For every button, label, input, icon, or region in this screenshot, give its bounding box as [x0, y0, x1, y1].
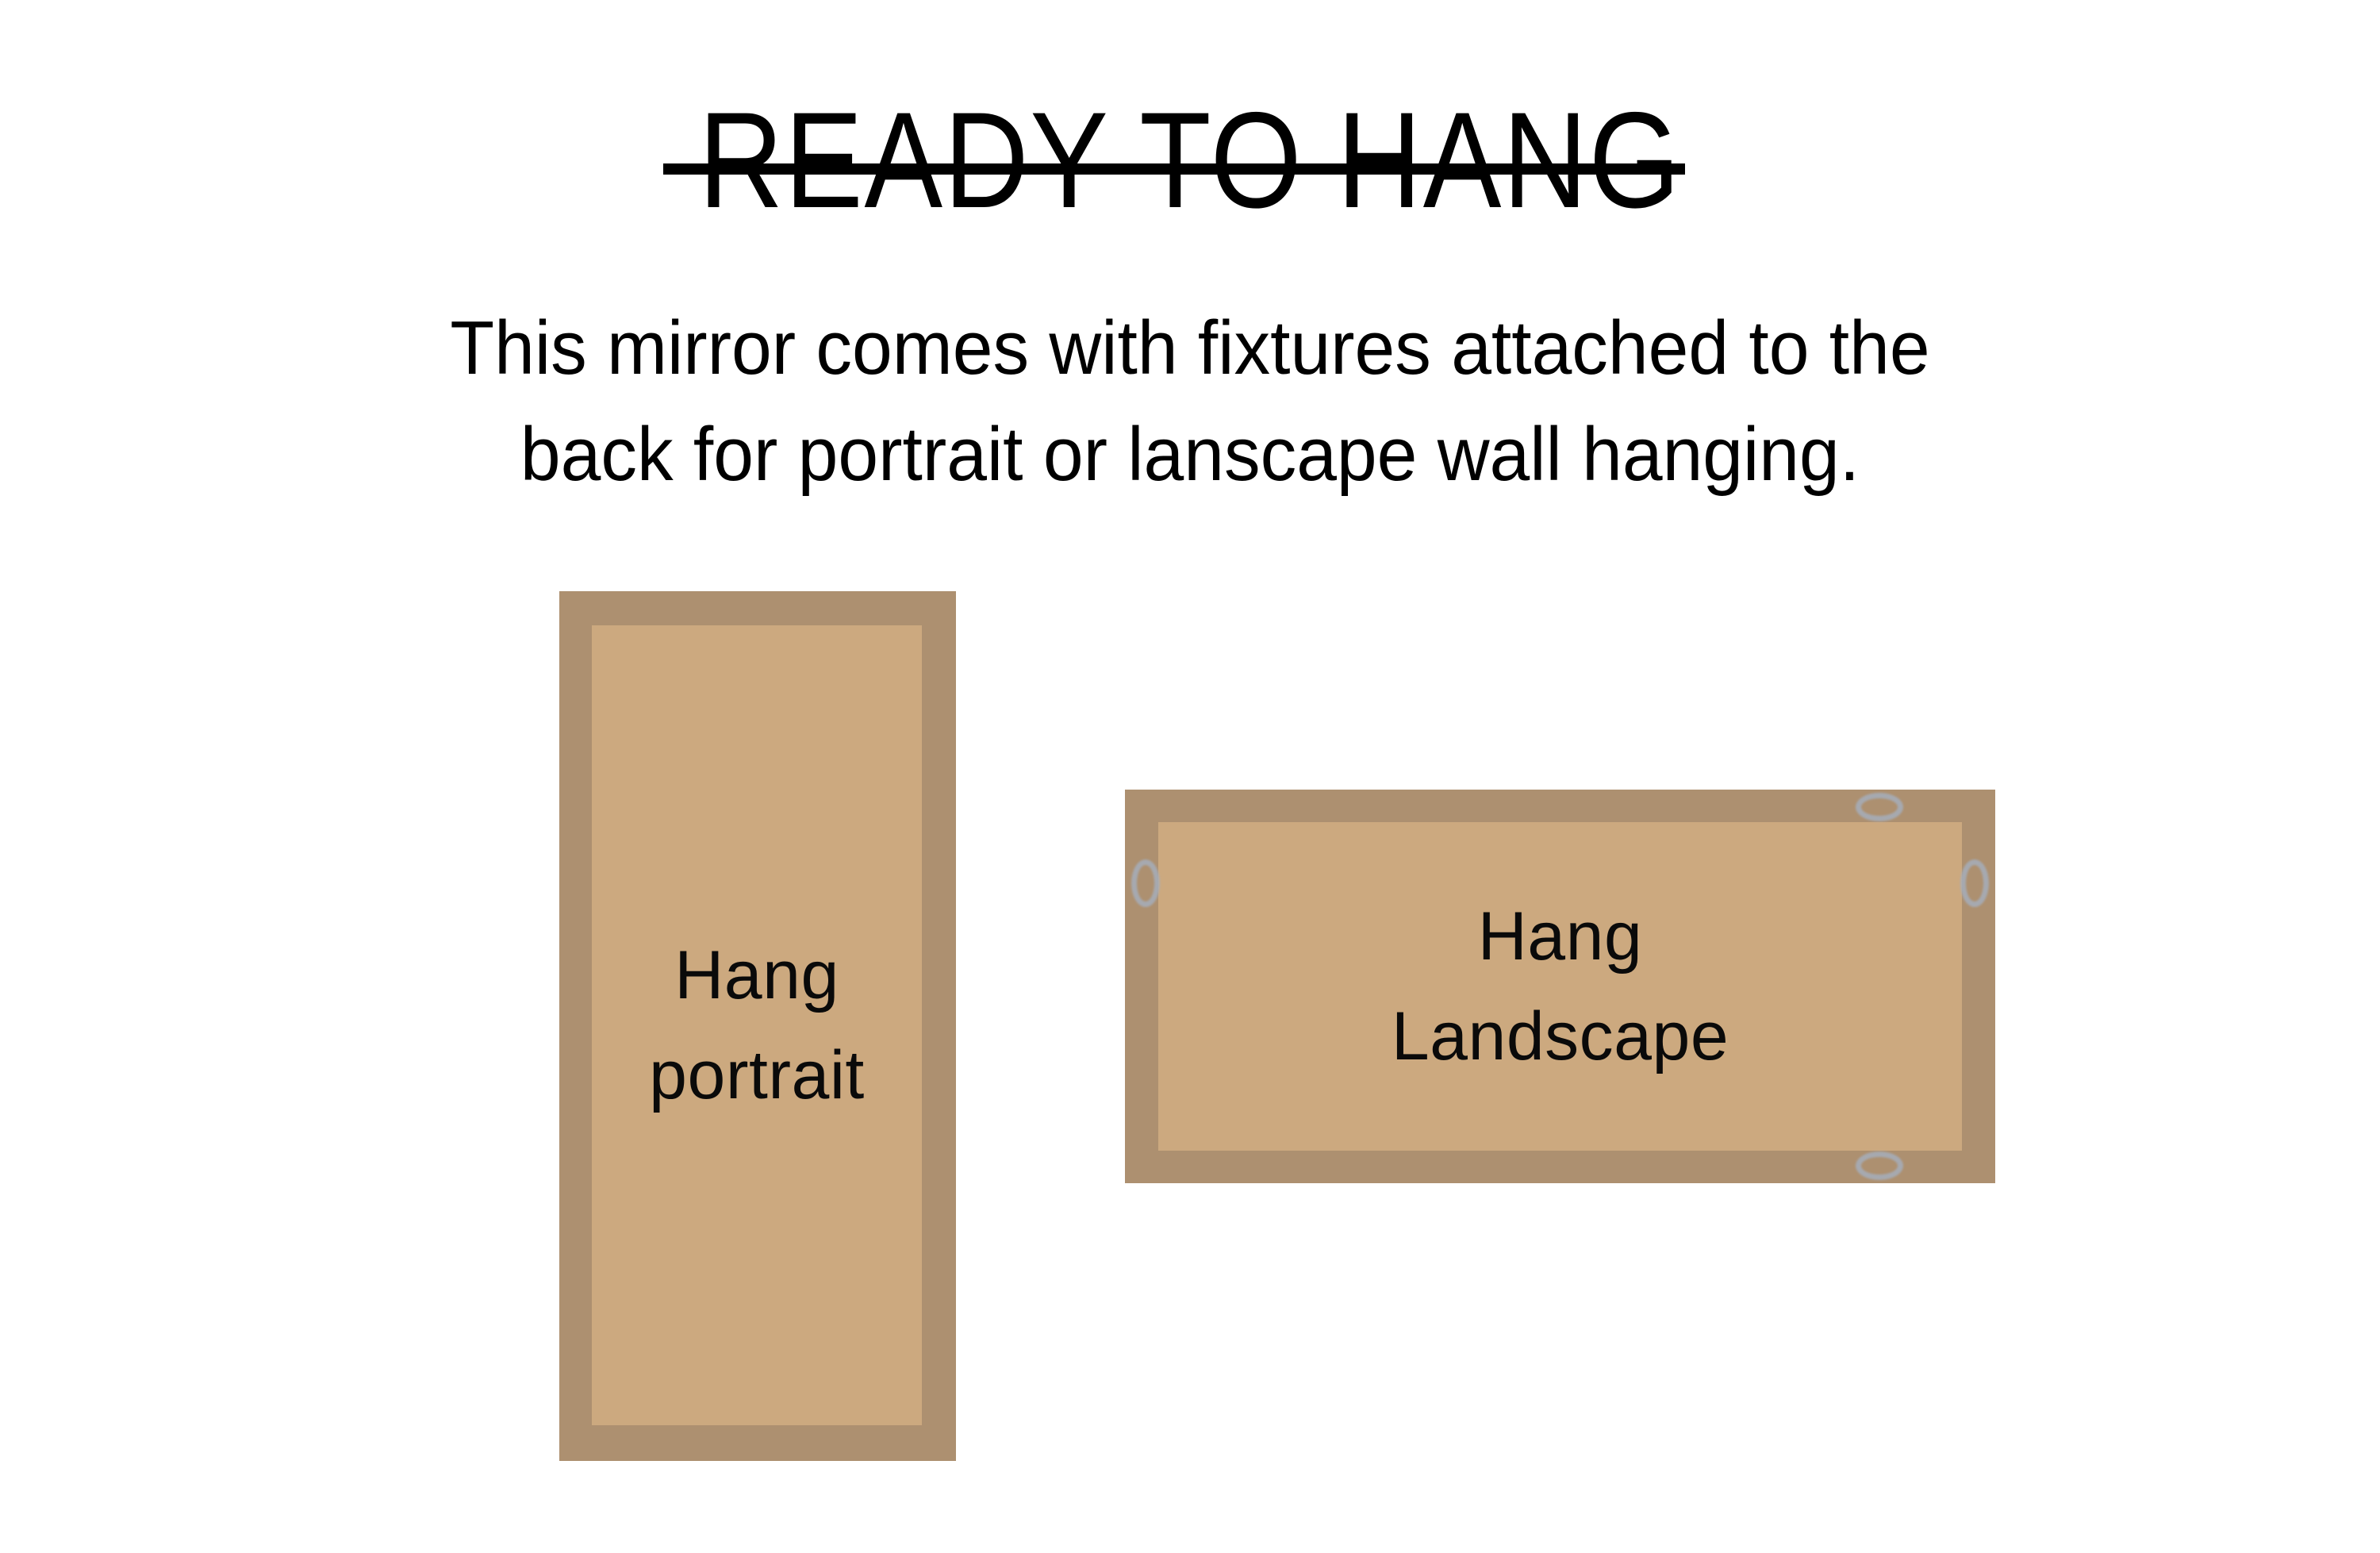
d-ring-hanger-left-icon	[1131, 859, 1160, 907]
subtitle-line-2: back for portrait or lanscape wall hangi…	[59, 402, 2320, 508]
page-title: READY TO HANG	[167, 86, 2213, 235]
portrait-mirror-glass: Hang portrait	[592, 625, 922, 1425]
landscape-mirror-glass: Hang Landscape	[1158, 822, 1962, 1151]
subtitle-block: This mirror comes with fixtures attached…	[0, 295, 2380, 508]
title-underline-rule	[663, 163, 1685, 175]
landscape-mirror-diagram: Hang Landscape	[1125, 790, 1995, 1183]
page-title-block: READY TO HANG	[0, 86, 2380, 235]
subtitle-line-1: This mirror comes with fixtures attached…	[59, 295, 2320, 402]
infographic-canvas: READY TO HANG This mirror comes with fix…	[0, 0, 2380, 1553]
d-ring-hanger-right-icon	[1960, 859, 1989, 907]
portrait-mirror-diagram: Hang portrait	[559, 591, 956, 1461]
d-ring-hanger-bottom-icon	[1856, 1151, 1903, 1180]
landscape-mirror-label: Hang Landscape	[1392, 886, 1729, 1086]
d-ring-hanger-top-icon	[1856, 793, 1903, 821]
portrait-mirror-label: Hang portrait	[649, 925, 865, 1125]
